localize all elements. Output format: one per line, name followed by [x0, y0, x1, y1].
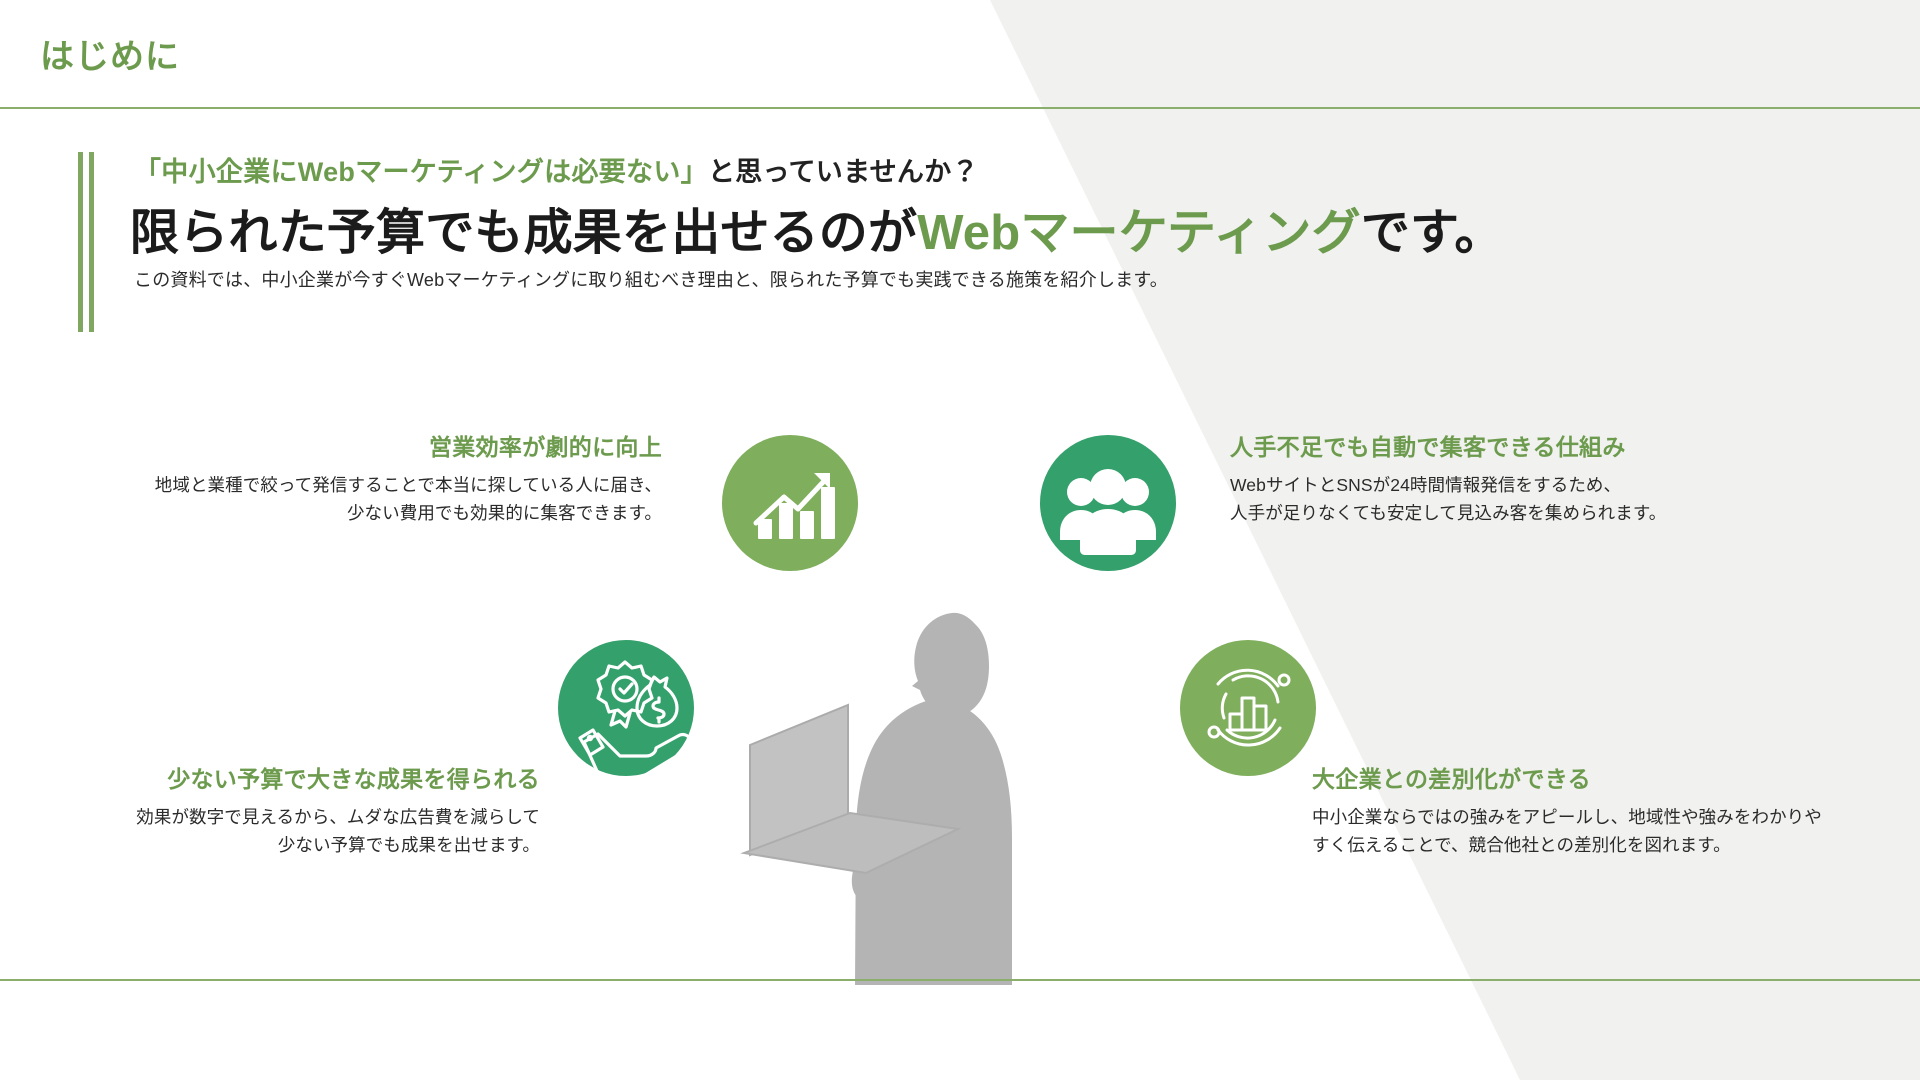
card-body-line-1: 中小企業ならではの強みをアピールし、地域性や強みをわかりや	[1312, 803, 1822, 831]
card-body-line-2: すく伝えることで、競合他社との差別化を図れます。	[1312, 831, 1822, 859]
card-body: 地域と業種で絞って発信することで本当に探している人に届き、 少ない費用でも効果的…	[155, 471, 662, 528]
card-body-line-1: 効果が数字で見えるから、ムダな広告費を減らして	[136, 803, 540, 831]
card-title: 少ない予算で大きな成果を得られる	[167, 760, 540, 794]
lead-headline-part-a: 限られた予算でも成果を出せるのが	[130, 206, 917, 260]
slide-root: はじめに 「中小企業にWebマーケティングは必要ない」と思っていませんか？ 限ら…	[0, 0, 1920, 1080]
card-body-line-2: 少ない費用でも効果的に集客できます。	[155, 499, 662, 527]
bar-chart-growth-icon	[722, 435, 858, 571]
person-with-laptop-silhouette	[730, 605, 1160, 985]
accent-bar-2	[89, 152, 94, 332]
lead-subheading: 「中小企業にWebマーケティングは必要ない」と思っていませんか？	[134, 150, 979, 189]
footer-divider	[0, 979, 1920, 981]
lead-headline-part-b: です。	[1361, 206, 1504, 260]
card-body-line-1: 地域と業種で絞って発信することで本当に探している人に届き、	[155, 471, 662, 499]
card-body-line-2: 人手が足りなくても安定して見込み客を集められます。	[1230, 499, 1666, 527]
hand-money-badge-icon	[558, 640, 694, 776]
lead-headline: 限られた予算でも成果を出せるのがWebマーケティングです。	[130, 193, 1504, 264]
page-title: はじめに	[40, 29, 180, 78]
card-title: 人手不足でも自動で集客できる仕組み	[1230, 428, 1626, 462]
card-title: 営業効率が劇的に向上	[429, 428, 662, 462]
card-body: 中小企業ならではの強みをアピールし、地域性や強みをわかりや すく伝えることで、競…	[1312, 803, 1822, 860]
lead-subheading-quote: 「中小企業にWebマーケティングは必要ない」	[134, 157, 708, 187]
accent-bars	[78, 152, 96, 332]
card-body-line-2: 少ない予算でも成果を出せます。	[136, 831, 540, 859]
lead-description: この資料では、中小企業が今すぐWebマーケティングに取り組むべき理由と、限られた…	[134, 266, 1168, 292]
card-body: WebサイトとSNSが24時間情報発信をするため、 人手が足りなくても安定して見…	[1230, 471, 1666, 528]
card-body: 効果が数字で見えるから、ムダな広告費を減らして 少ない予算でも成果を出せます。	[136, 803, 540, 860]
lead-subheading-rest: と思っていませんか？	[708, 157, 979, 187]
card-title: 大企業との差別化ができる	[1312, 760, 1591, 794]
card-body-line-1: WebサイトとSNSが24時間情報発信をするため、	[1230, 471, 1666, 499]
people-group-icon	[1040, 435, 1176, 571]
analytics-orbit-icon	[1180, 640, 1316, 776]
lead-headline-accent: Webマーケティング	[917, 206, 1361, 260]
slide-header: はじめに	[0, 0, 1920, 108]
accent-bar-1	[78, 152, 83, 332]
